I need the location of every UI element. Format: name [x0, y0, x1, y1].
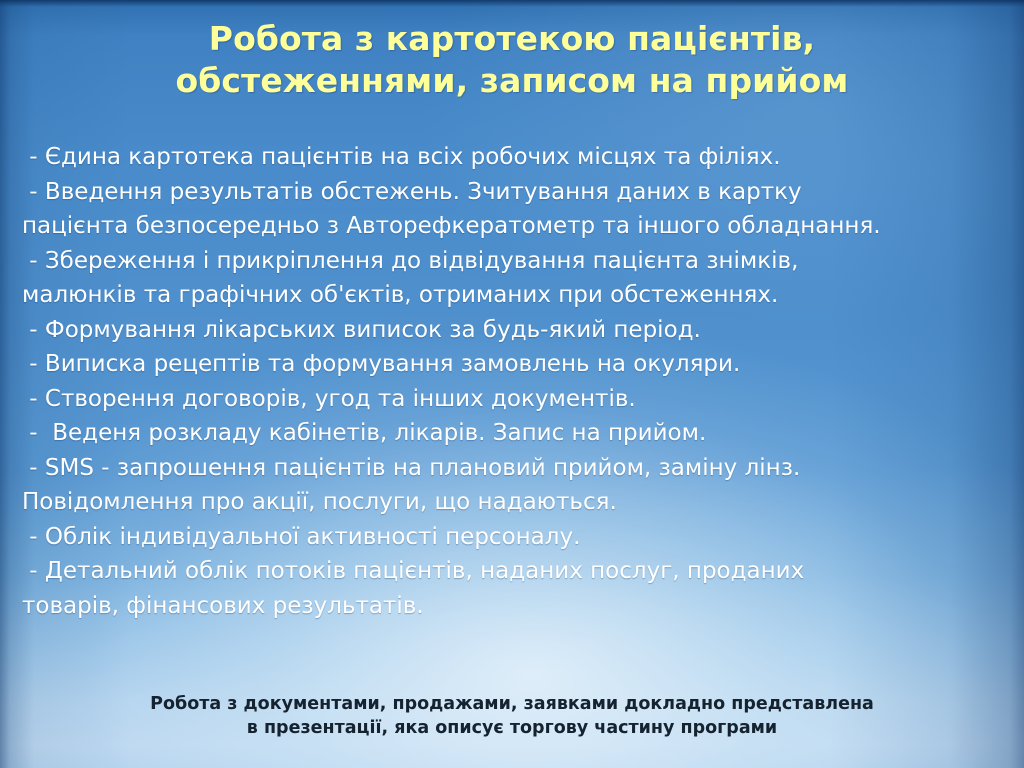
bullet-item: - Введення результатів обстежень. Зчитув… [0, 175, 1024, 244]
title-line-2: обстеженнями, записом на прийом [0, 60, 1024, 102]
bullet-line: - SMS - запрошення пацієнтів на плановий… [22, 451, 1002, 486]
bullet-item: - Збереження і прикріплення до відвідува… [0, 244, 1024, 313]
bullet-line: - Формування лікарських виписок за будь-… [22, 313, 1002, 348]
bullet-line: - Єдина картотека пацієнтів на всіх робо… [22, 140, 1002, 175]
bullet-item: - SMS - запрошення пацієнтів на плановий… [0, 451, 1024, 520]
bullet-item: - Єдина картотека пацієнтів на всіх робо… [0, 140, 1024, 175]
footer-line-2: в презентації, яка описує торгову частин… [0, 716, 1024, 740]
bullet-line: - Створення договорів, угод та інших док… [22, 382, 1002, 417]
bullet-item: - Облік індивідуальної активності персон… [0, 520, 1024, 555]
bullet-line: - Веденя розкладу кабінетів, лікарів. За… [22, 416, 1002, 451]
bullet-line: - Облік індивідуальної активності персон… [22, 520, 1002, 555]
bullet-list: - Єдина картотека пацієнтів на всіх робо… [0, 140, 1024, 623]
presentation-slide: Робота з картотекою пацієнтів, обстеженн… [0, 0, 1024, 768]
bullet-line: пацієнта безпосередньо з Авторефкератоме… [22, 209, 1002, 244]
bullet-line: - Детальний облік потоків пацієнтів, над… [22, 554, 1002, 589]
slide-title: Робота з картотекою пацієнтів, обстеженн… [0, 18, 1024, 102]
slide-content: Робота з картотекою пацієнтів, обстеженн… [0, 0, 1024, 768]
bullet-item: - Виписка рецептів та формування замовле… [0, 347, 1024, 382]
title-line-1: Робота з картотекою пацієнтів, [0, 18, 1024, 60]
bullet-item: - Детальний облік потоків пацієнтів, над… [0, 554, 1024, 623]
bullet-item: - Формування лікарських виписок за будь-… [0, 313, 1024, 348]
footer-line-1: Робота з документами, продажами, заявкам… [0, 692, 1024, 716]
footer-note: Робота з документами, продажами, заявкам… [0, 692, 1024, 740]
bullet-line: малюнків та графічних об'єктів, отримани… [22, 278, 1002, 313]
bullet-item: - Створення договорів, угод та інших док… [0, 382, 1024, 417]
bullet-line: - Виписка рецептів та формування замовле… [22, 347, 1002, 382]
bullet-item: - Веденя розкладу кабінетів, лікарів. За… [0, 416, 1024, 451]
bullet-line: - Введення результатів обстежень. Зчитув… [22, 175, 1002, 210]
bullet-line: - Збереження і прикріплення до відвідува… [22, 244, 1002, 279]
bullet-line: Повідомлення про акції, послуги, що нада… [22, 485, 1002, 520]
bullet-line: товарів, фінансових результатів. [22, 589, 1002, 624]
